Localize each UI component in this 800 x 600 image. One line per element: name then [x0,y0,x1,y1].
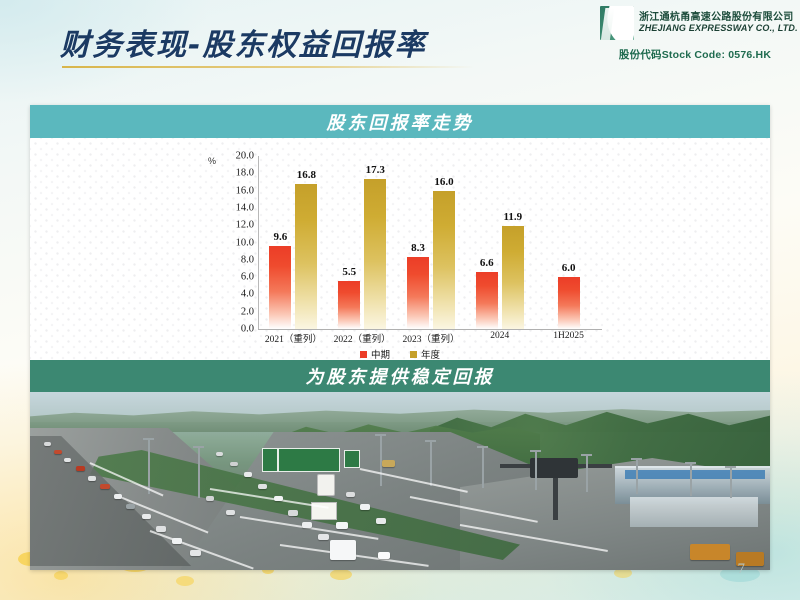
chart-bar: 17.3 [364,179,386,329]
bar-group: 9.616.8 [259,156,328,329]
photo-lamp-arm [193,446,204,448]
photo-lamp-arm [631,458,642,460]
bar-value-label: 6.0 [562,262,576,274]
y-axis-tick: 18.0 [236,168,254,179]
photo-lamp-post [586,454,588,492]
chart-bar: 11.9 [502,226,524,329]
photo-vehicle [382,460,395,467]
photo-lamp-post [690,462,692,496]
photo-lamp-arm [143,438,154,440]
company-logo-block: 浙江通杭甬高速公路股份有限公司 ZHEJIANG EXPRESSWAY CO.,… [600,6,790,68]
chart-y-axis: 20.018.016.014.012.010.08.06.04.02.00.0 [220,151,254,329]
decor-splash [176,576,194,586]
chart-x-axis-line [258,329,602,330]
bar-value-label: 6.6 [480,257,494,269]
bar-value-label: 17.3 [366,164,385,176]
y-axis-tick: 12.0 [236,220,254,231]
photo-vehicle [376,518,386,524]
logo-text: 浙江通杭甬高速公路股份有限公司 ZHEJIANG EXPRESSWAY CO.,… [639,13,798,33]
photo-toll-signboard [625,470,765,479]
photo-section-banner: 为股东提供稳定回报 [30,360,770,392]
y-axis-tick: 20.0 [236,151,254,162]
photo-vehicle [258,484,267,489]
photo-lamp-post [535,450,537,490]
legend-label: 中期 [371,347,390,361]
photo-vehicle [330,540,356,560]
photo-vehicle [360,504,370,510]
photo-vehicle [244,472,252,477]
bar-value-label: 11.9 [503,211,522,223]
photo-lamp-arm [725,466,736,468]
photo-lamp-arm [375,434,386,436]
chart-bar: 5.5 [338,281,360,329]
legend-item: 中期 [360,347,390,361]
y-axis-tick: 10.0 [236,237,254,248]
company-name-en: ZHEJIANG EXPRESSWAY CO., LTD. [639,24,798,33]
y-axis-tick: 14.0 [236,202,254,213]
y-axis-tick: 0.0 [241,324,254,335]
x-axis-tick: 2021（重列） [265,331,322,345]
photo-vehicle [274,496,283,501]
photo-highway-sign-small [344,450,360,468]
photo-vehicle [216,452,223,456]
photo-vehicle [206,496,214,501]
photo-vehicle [54,450,62,454]
expressway-photo [30,392,770,570]
y-axis-tick: 16.0 [236,185,254,196]
roe-bar-chart: % 20.018.016.014.012.010.08.06.04.02.00.… [30,138,770,360]
photo-lamp-post [148,438,150,494]
photo-vehicle [230,462,238,466]
photo-vehicle [100,484,110,489]
x-axis-tick: 2023（重列） [402,331,459,345]
photo-lamp-arm [530,450,541,452]
chart-bar: 16.0 [433,191,455,329]
chart-bar: 16.8 [295,184,317,329]
photo-lamp-post [482,446,484,488]
photo-toll-booth [630,497,758,527]
company-name-cn: 浙江通杭甬高速公路股份有限公司 [639,13,798,24]
photo-lamp-post [636,458,638,494]
bar-group: 8.316.0 [397,156,466,329]
photo-lamp-arm [477,446,488,448]
photo-vehicle [318,534,329,540]
y-axis-tick: 6.0 [241,272,254,283]
legend-swatch-icon [360,351,367,358]
photo-vehicle [172,538,182,544]
chart-bar: 6.0 [558,277,580,329]
chart-legend: 中期年度 [30,347,770,361]
chart-plot-area: 9.616.85.517.38.316.06.611.96.0 [259,156,603,329]
photo-lamp-post [198,446,200,498]
x-axis-tick: 1H2025 [553,331,584,341]
stock-code-label: 股份代码Stock Code: 0576.HK [600,47,790,62]
slide-header: 财务表现-股东权益回报率 浙江通杭甬高速公路股份有限公司 ZHEJIANG EX… [0,0,800,92]
content-panel: 股东回报率走势 % 20.018.016.014.012.010.08.06.0… [30,105,770,570]
bar-group: 5.517.3 [328,156,397,329]
chart-x-axis-labels: 2021（重列）2022（重列）2023（重列）20241H2025 [259,331,603,347]
photo-vehicle [114,494,122,499]
y-axis-tick: 8.0 [241,254,254,265]
photo-vehicle [302,522,312,528]
slide-canvas: 财务表现-股东权益回报率 浙江通杭甬高速公路股份有限公司 ZHEJIANG EX… [0,0,800,600]
legend-swatch-icon [410,351,417,358]
chart-banner-title: 股东回报率走势 [327,109,474,135]
y-axis-tick: 4.0 [241,289,254,300]
bar-value-label: 5.5 [342,266,356,278]
photo-lamp-arm [685,462,696,464]
photo-vehicle [226,510,235,515]
legend-item: 年度 [410,347,440,361]
bar-value-label: 16.8 [297,169,316,181]
photo-gantry-box [530,458,578,478]
photo-lamp-post [730,466,732,498]
photo-vehicle [690,544,730,560]
y-axis-tick: 2.0 [241,306,254,317]
photo-highway-sign-small [262,448,278,472]
photo-vehicle [44,442,51,446]
title-underline-rule [62,66,474,68]
x-axis-tick: 2022（重列） [334,331,391,345]
bar-group: 6.611.9 [465,156,534,329]
photo-vehicle [76,466,85,471]
photo-lamp-arm [581,454,592,456]
x-axis-tick: 2024 [490,331,509,341]
photo-highway-sign [278,448,340,472]
bar-group: 6.0 [534,156,603,329]
chart-bar: 6.6 [476,272,498,329]
photo-vehicle [346,492,355,497]
bar-value-label: 16.0 [434,176,453,188]
photo-vehicle [126,504,135,509]
chart-section-banner: 股东回报率走势 [30,105,770,138]
logo-row: 浙江通杭甬高速公路股份有限公司 ZHEJIANG EXPRESSWAY CO.,… [600,6,790,40]
chart-bar: 8.3 [407,257,429,329]
page-title: 财务表现-股东权益回报率 [60,20,426,64]
legend-label: 年度 [421,347,440,361]
bar-value-label: 8.3 [411,242,425,254]
photo-vehicle [88,476,96,481]
photo-banner-title: 为股东提供稳定回报 [306,363,495,389]
photo-lamp-post [430,440,432,486]
bar-value-label: 9.6 [274,231,288,243]
page-number: 7 [738,561,746,578]
company-logo-mark-icon [600,6,634,40]
chart-bar: 9.6 [269,246,291,329]
photo-vehicle [156,526,166,532]
photo-vehicle [64,458,71,462]
photo-regulatory-sign [317,474,335,496]
chart-unit-label: % [208,156,216,166]
photo-vehicle [142,514,151,519]
photo-vehicle [336,522,348,529]
photo-vehicle [190,550,201,556]
photo-vehicle [378,552,390,559]
decor-splash [54,571,68,580]
photo-lamp-arm [425,440,436,442]
decor-splash [330,569,352,580]
photo-vehicle [288,510,298,516]
